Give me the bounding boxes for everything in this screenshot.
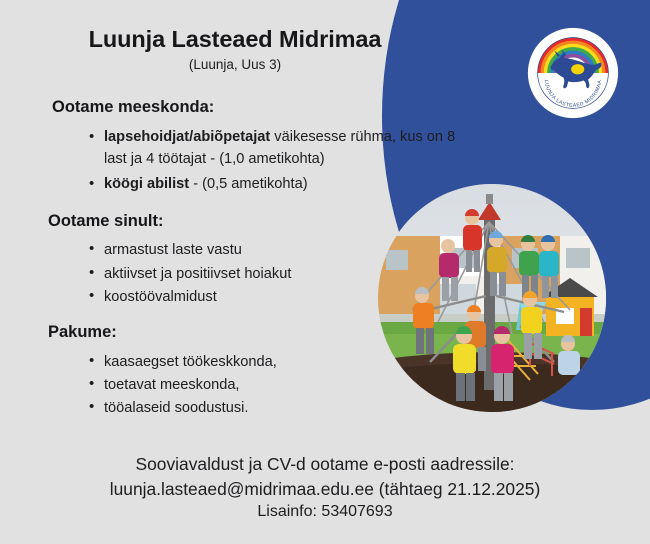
bullet-list: armastust laste vastu aktiivset ja posit… [0,239,470,308]
list-item: koostöövalmidust [0,286,470,308]
page-subtitle: (Luunja, Uus 3) [0,57,470,73]
section-ootame-sinult: Ootame sinult: armastust laste vastu akt… [0,212,470,308]
section-pakume: Pakume: kaasaegset töökeskkonda, toetava… [0,323,470,419]
list-item-bold: lapsehoidjat/abiõpetajat [104,129,270,145]
bullet-list: lapsehoidjat/abiõpetajat väikesesse rühm… [0,126,470,196]
section-heading: Ootame meeskonda: [52,98,470,118]
list-item: tööalaseid soodustusi. [0,397,470,419]
contact-footer: Sooviavaldust ja CV-d ootame e-posti aad… [0,452,650,524]
footer-phone: Lisainfo: 53407693 [0,501,650,524]
list-item: armastust laste vastu [0,239,470,261]
list-item-bold: köögi abilist [104,176,189,192]
list-item: aktiivset ja positiivset hoiakut [0,263,470,285]
section-heading: Pakume: [48,323,470,343]
list-item-text: tööalaseid soodustusi. [104,400,248,416]
section-ootame-meeskonda: Ootame meeskonda: lapsehoidjat/abiõpetaj… [0,98,470,196]
list-item: köögi abilist - (0,5 ametikohta) [0,173,470,196]
footer-instruction: Sooviavaldust ja CV-d ootame e-posti aad… [0,452,650,477]
list-item: kaasaegset töökeskkonda, [0,351,470,373]
list-item-text: armastust laste vastu [104,242,242,258]
job-posting-poster: LUUNJA LASTEAED MIDRIMAA [0,0,650,544]
section-heading: Ootame sinult: [48,212,470,232]
footer-email-deadline[interactable]: luunja.lasteaed@midrimaa.edu.ee (tähtaeg… [0,477,650,502]
page-title: Luunja Lasteaed Midrimaa [0,26,470,53]
luunja-lasteaed-midrimaa-logo: LUUNJA LASTEAED MIDRIMAA [526,26,620,120]
list-item: lapsehoidjat/abiõpetajat väikesesse rühm… [0,126,470,171]
bullet-list: kaasaegset töökeskkonda, toetavat meesko… [0,351,470,420]
list-item-text: koostöövalmidust [104,289,217,305]
list-item-text: kaasaegset töökeskkonda, [104,354,277,370]
poster-body: Ootame meeskonda: lapsehoidjat/abiõpetaj… [0,98,470,420]
list-item-text: aktiivset ja positiivset hoiakut [104,266,291,282]
list-item: toetavat meeskonda, [0,374,470,396]
poster-header: Luunja Lasteaed Midrimaa (Luunja, Uus 3) [0,26,470,73]
list-item-text: toetavat meeskonda, [104,377,239,393]
list-item-text: - (0,5 ametikohta) [189,176,307,192]
